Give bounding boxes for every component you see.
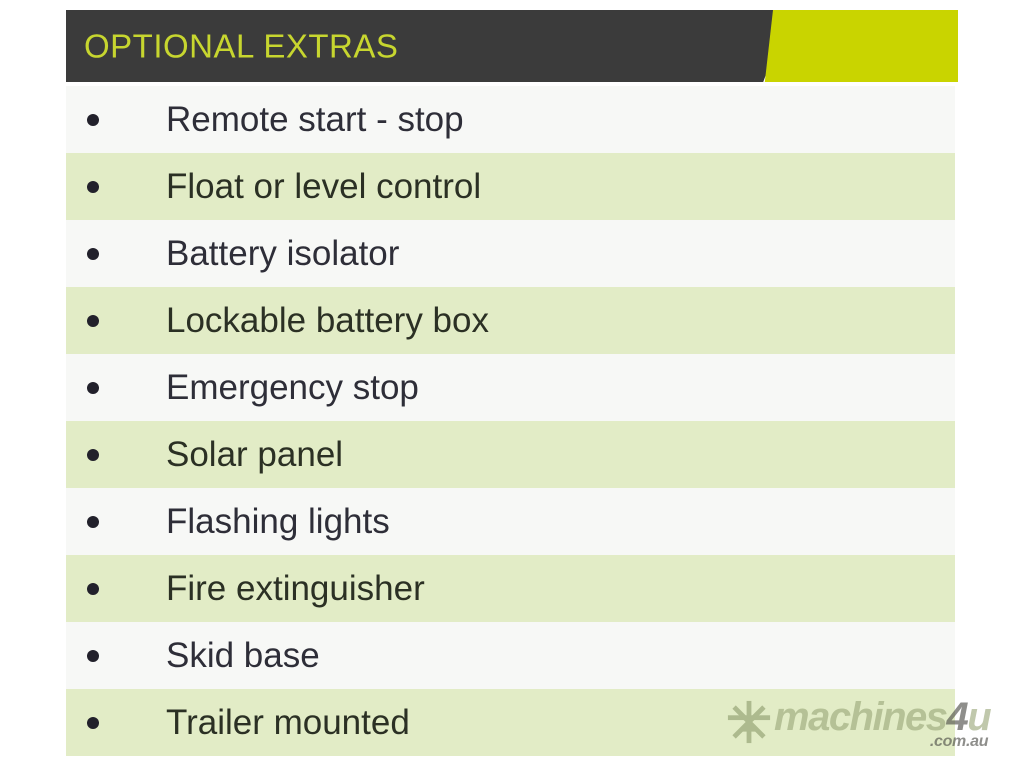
bullet-icon xyxy=(87,315,99,327)
list-item-label: Trailer mounted xyxy=(166,705,410,740)
list-item-label: Emergency stop xyxy=(166,370,419,405)
list-item-label: Flashing lights xyxy=(166,504,390,539)
list-item-label: Lockable battery box xyxy=(166,303,489,338)
list-item[interactable]: Lockable battery box xyxy=(66,287,955,354)
list-item[interactable]: Remote start - stop xyxy=(66,86,955,153)
list-item[interactable]: Flashing lights xyxy=(66,488,955,555)
header-dark-shape: OPTIONAL EXTRAS xyxy=(66,10,790,82)
bullet-icon xyxy=(87,583,99,595)
list-item-label: Solar panel xyxy=(166,437,343,472)
list-item[interactable]: Skid base xyxy=(66,622,955,689)
bullet-icon xyxy=(87,248,99,260)
slide-canvas: OPTIONAL EXTRAS Remote start - stop Floa… xyxy=(0,0,1024,768)
bullet-icon xyxy=(87,516,99,528)
list-item-label: Skid base xyxy=(166,638,320,673)
bullet-icon xyxy=(87,650,99,662)
bullet-icon xyxy=(87,717,99,729)
bullet-icon xyxy=(87,382,99,394)
list-item[interactable]: Trailer mounted xyxy=(66,689,955,756)
list-item-label: Battery isolator xyxy=(166,236,399,271)
watermark-brand-u: u xyxy=(967,695,990,739)
list-item[interactable]: Battery isolator xyxy=(66,220,955,287)
bullet-icon xyxy=(87,181,99,193)
list-item-label: Float or level control xyxy=(166,169,481,204)
list-item[interactable]: Emergency stop xyxy=(66,354,955,421)
header-banner: OPTIONAL EXTRAS xyxy=(66,10,958,82)
list-item-label: Remote start - stop xyxy=(166,102,464,137)
page-title: OPTIONAL EXTRAS xyxy=(84,30,398,63)
list-item[interactable]: Float or level control xyxy=(66,153,955,220)
header-accent-shape xyxy=(758,10,958,82)
list-item[interactable]: Solar panel xyxy=(66,421,955,488)
list-item[interactable]: Fire extinguisher xyxy=(66,555,955,622)
bullet-icon xyxy=(87,114,99,126)
list-item-label: Fire extinguisher xyxy=(166,571,425,606)
bullet-icon xyxy=(87,449,99,461)
optional-extras-list: Remote start - stop Float or level contr… xyxy=(66,86,955,756)
